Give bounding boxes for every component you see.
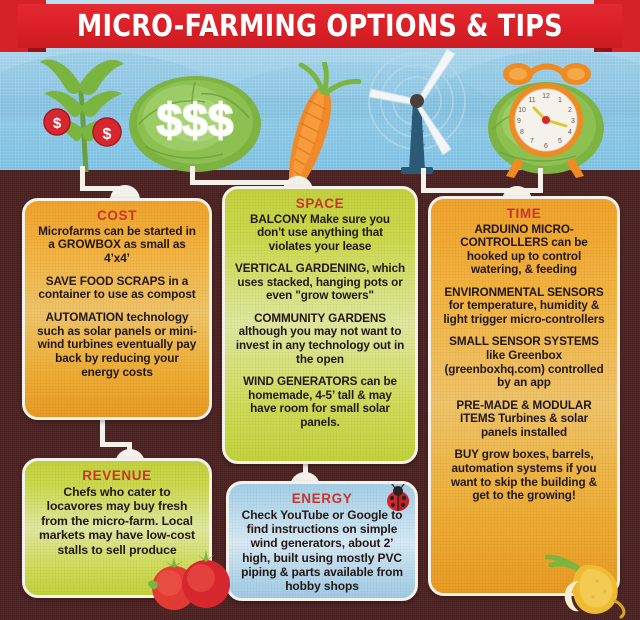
svg-text:$: $ — [53, 115, 62, 132]
page-title: MICRO-FARMING OPTIONS & TIPS — [77, 9, 563, 44]
svg-text:5: 5 — [558, 138, 562, 145]
card-time[interactable]: TIME ARDUINO MICRO-CONTROLLERS can be ho… — [428, 196, 620, 596]
cabbage-with-dollar-signs-icon: $$$ — [125, 68, 265, 178]
svg-text:$: $ — [103, 126, 112, 143]
card-energy-heading: ENERGY — [239, 491, 405, 507]
svg-text:12: 12 — [542, 93, 550, 100]
connector-turbine-to-time-h — [421, 188, 517, 193]
card-time-paragraph-4: PRE-MADE & MODULAR ITEMS Turbines & sola… — [441, 399, 607, 440]
svg-text:9: 9 — [517, 118, 521, 125]
svg-text:4: 4 — [568, 129, 572, 136]
svg-text:11: 11 — [528, 97, 535, 104]
card-time-paragraph-3: SMALL SENSOR SYSTEMS like Greenbox (gree… — [441, 335, 607, 389]
svg-text:8: 8 — [520, 129, 524, 136]
card-cost-paragraph-2: SAVE FOOD SCRAPS in a container to use a… — [35, 275, 199, 302]
card-space-paragraph-3: COMMUNITY GARDENS although you may not w… — [235, 312, 405, 366]
svg-text:6: 6 — [544, 143, 548, 150]
card-time-heading: TIME — [441, 206, 607, 222]
alarm-clock-on-cabbage-icon: 1212 345 678 91011 — [480, 62, 610, 182]
title-bar: MICRO-FARMING OPTIONS & TIPS — [18, 4, 622, 48]
card-cost[interactable]: COST Microfarms can be started in a GROW… — [22, 198, 212, 420]
svg-text:2: 2 — [568, 107, 572, 114]
svg-text:3: 3 — [571, 118, 575, 125]
card-revenue[interactable]: REVENUE Chefs who cater to locavores may… — [22, 458, 212, 598]
card-energy[interactable]: ENERGY Check YouTube or Google to find i… — [226, 481, 418, 601]
dollar-signs-label: $$$ — [157, 94, 234, 146]
svg-text:1: 1 — [558, 97, 562, 104]
card-revenue-paragraph-1: Chefs who cater to locavores may buy fre… — [35, 485, 199, 558]
svg-text:7: 7 — [530, 138, 534, 145]
card-time-paragraph-1: ARDUINO MICRO-CONTROLLERS can be hooked … — [441, 223, 607, 277]
infographic-poster: MICRO-FARMING OPTIONS & TIPS $ $ — [0, 0, 640, 620]
card-time-paragraph-2: ENVIRONMENTAL SENSORS for temperature, h… — [441, 286, 607, 327]
card-revenue-heading: REVENUE — [35, 468, 199, 484]
card-cost-paragraph-3: AUTOMATION technology such as solar pane… — [35, 311, 199, 379]
svg-text:10: 10 — [518, 107, 526, 114]
card-energy-paragraph-1: Check YouTube or Google to find instruct… — [239, 508, 405, 594]
card-cost-heading: COST — [35, 208, 199, 224]
card-space-heading: SPACE — [235, 196, 405, 212]
card-space[interactable]: SPACE BALCONY Make sure you don't use an… — [222, 186, 418, 464]
card-time-paragraph-5: BUY grow boxes, barrels, automation syst… — [441, 448, 607, 502]
card-space-paragraph-4: WIND GENERATORS can be homemade, 4-5’ ta… — [235, 375, 405, 429]
card-space-paragraph-2: VERTICAL GARDENING, which uses stacked, … — [235, 262, 405, 303]
card-space-paragraph-1: BALCONY Make sure you don't use anything… — [235, 213, 405, 254]
wind-turbine-icon — [355, 45, 495, 175]
card-cost-paragraph-1: Microfarms can be started in a GROWBOX a… — [35, 225, 199, 266]
